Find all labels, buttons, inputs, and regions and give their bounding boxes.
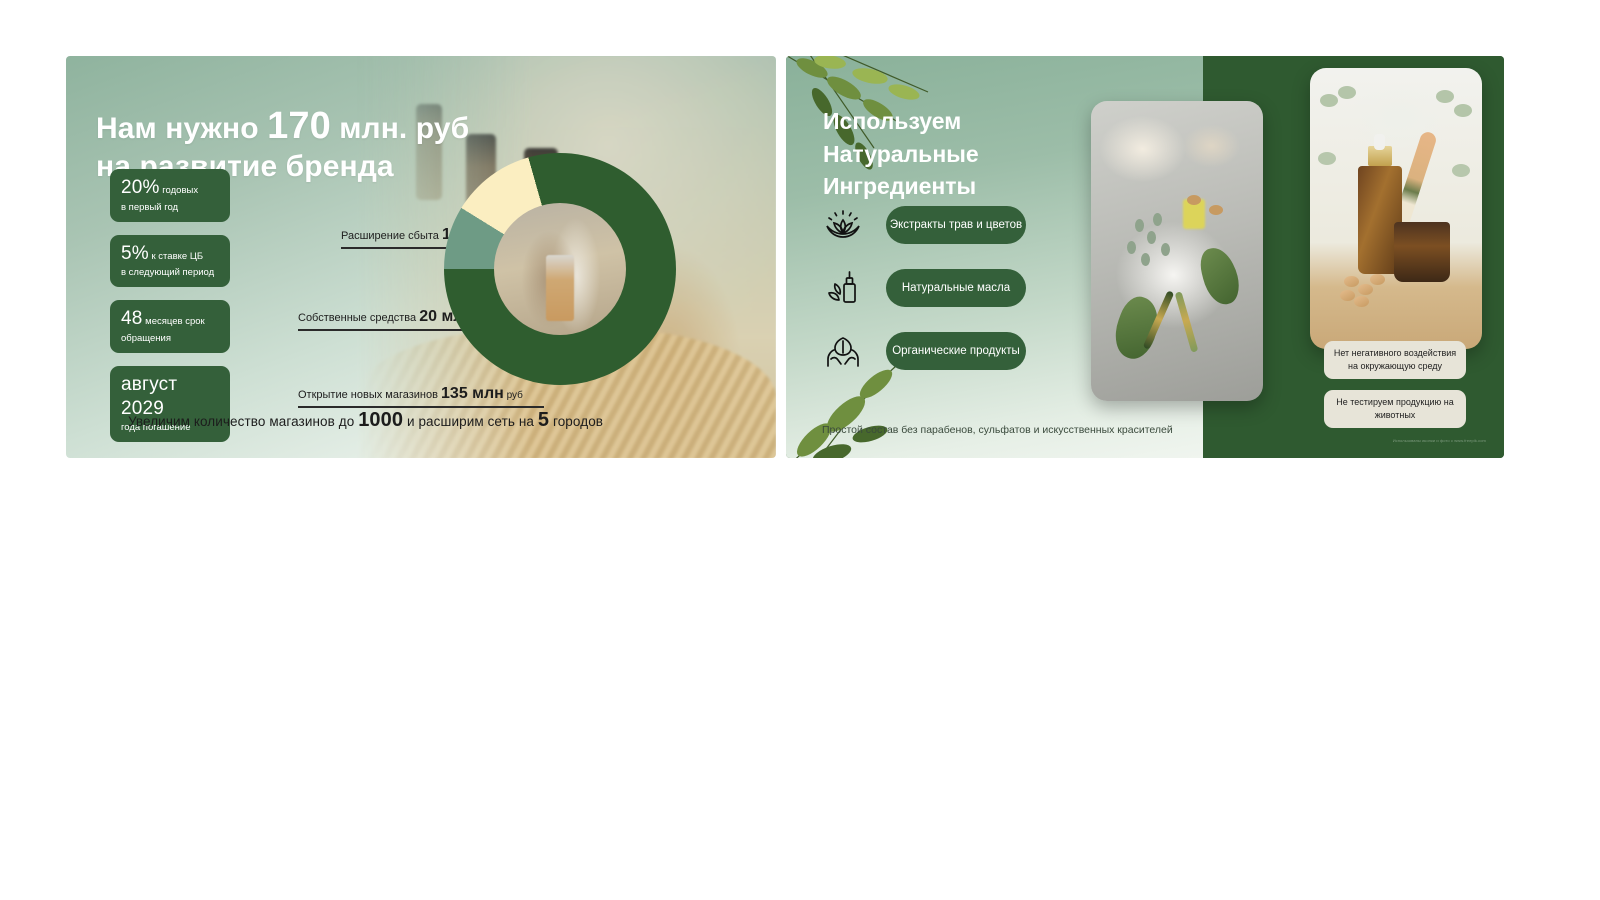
footer-mid: и расширим сеть на (403, 414, 538, 429)
term-label: к ставке ЦБ (149, 251, 203, 262)
photo-card-jade-rollers (1091, 101, 1263, 401)
funding-terms-list: 20% годовых в первый год 5% к ставке ЦБ … (110, 169, 230, 442)
oil-dropper-bottle-icon (822, 267, 864, 309)
callout-unit: руб (504, 390, 523, 401)
photo-card-serum-bottle (1310, 68, 1482, 349)
slide-natural-ingredients: Используем Натуральные Ингредиенты (786, 56, 1504, 458)
chart-callout: Открытие новых магазинов 135 млн руб (298, 385, 544, 408)
term-badge[interactable]: 48 месяцев срок обращения (110, 300, 230, 353)
slide-funding: Нам нужно 170 млн. руб на развитие бренд… (66, 56, 776, 458)
slide2-title-line1: Используем (823, 108, 961, 134)
slide1-title-pre: Нам нужно (96, 112, 267, 145)
term-label: годовых (160, 185, 198, 196)
ingredient-row: Натуральные масла (822, 267, 1026, 309)
ingredient-pill[interactable]: Органические продукты (886, 332, 1026, 370)
cruelty-free-claim-box: Не тестируем продукцию на животных (1324, 390, 1466, 428)
footer-stores-count: 1000 (358, 409, 403, 431)
slide2-title: Используем Натуральные Ингредиенты (823, 105, 979, 203)
term-label: месяцев срок (143, 316, 205, 327)
eco-claim-box: Нет негативного воздействия на окружающу… (1324, 341, 1466, 379)
term-sublabel: в следующий период (121, 267, 219, 279)
slide1-title-amount: 170 (267, 105, 331, 147)
slide2-title-line2: Натуральные (823, 141, 979, 167)
term-value: 48 (121, 308, 143, 329)
term-badge[interactable]: 20% годовых в первый год (110, 169, 230, 222)
ingredient-pill[interactable]: Экстракты трав и цветов (886, 206, 1026, 244)
image-credit-text: Использованы иконки и фото с www.freepik… (1346, 438, 1486, 443)
term-value: 20% (121, 177, 160, 198)
callout-text: Открытие новых магазинов 135 млн руб (298, 385, 544, 406)
ingredient-pill[interactable]: Натуральные масла (886, 269, 1026, 307)
callout-name: Собственные средства (298, 312, 419, 324)
funding-donut-chart (444, 153, 676, 385)
presentation-canvas: Нам нужно 170 млн. руб на развитие бренд… (0, 0, 1600, 900)
callout-value: 135 млн (441, 385, 504, 402)
ingredient-row: Экстракты трав и цветов (822, 204, 1026, 246)
slide2-composition-note: Простой состав без парабенов, сульфатов … (822, 424, 1173, 436)
slide2-title-line3: Ингредиенты (823, 173, 976, 199)
callout-rule (298, 406, 544, 408)
footer-post: городов (549, 414, 603, 429)
term-sublabel: обращения (121, 333, 219, 345)
callout-name: Расширение сбыта (341, 230, 442, 242)
hands-holding-leaf-icon (822, 330, 864, 372)
term-value: 5% (121, 243, 149, 264)
ingredient-feature-list: Экстракты трав и цветов Натуральные (822, 204, 1026, 372)
donut-center-photo (494, 203, 626, 335)
slide1-title-post: млн. руб (331, 112, 469, 145)
footer-cities-count: 5 (538, 409, 549, 431)
footer-pre: Увеличим количество магазинов до (128, 414, 358, 429)
callout-name: Открытие новых магазинов (298, 389, 441, 401)
ingredient-row: Органические продукты (822, 330, 1026, 372)
term-sublabel: в первый год (121, 202, 219, 214)
lotus-flower-icon (822, 204, 864, 246)
term-badge[interactable]: 5% к ставке ЦБ в следующий период (110, 235, 230, 288)
slide1-footer-statement: Увеличим количество магазинов до 1000 и … (128, 409, 603, 432)
